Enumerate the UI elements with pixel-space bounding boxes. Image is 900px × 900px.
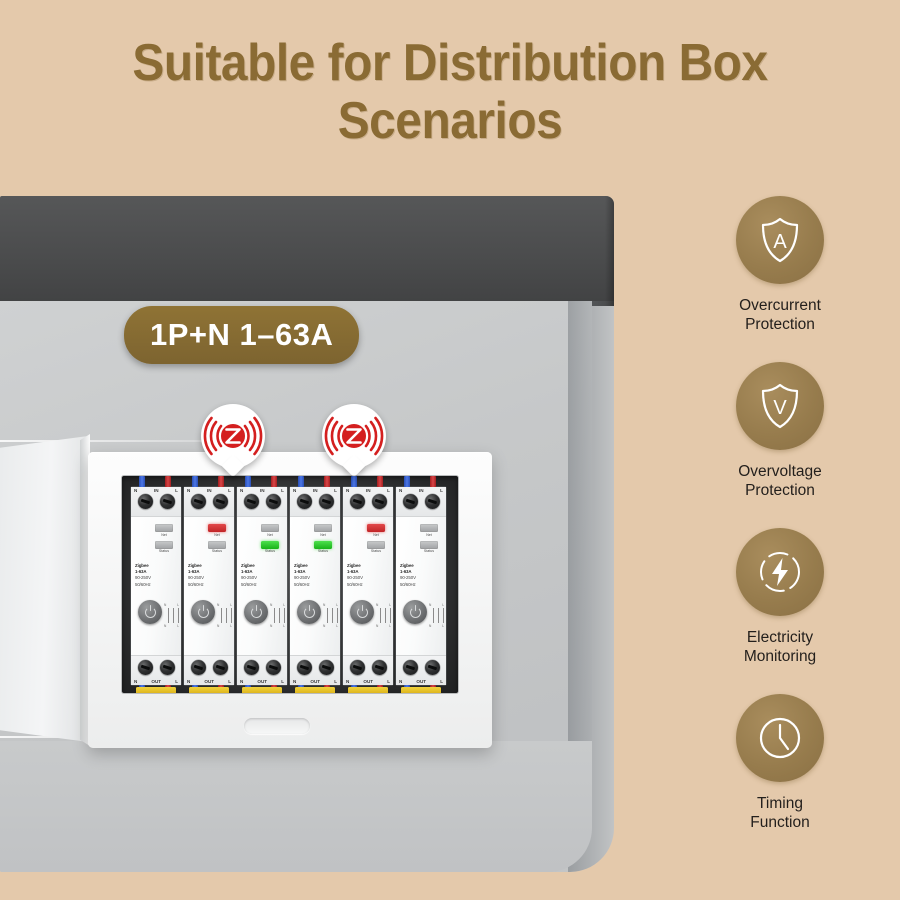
status-led [314,541,332,549]
spec-badge: 1P+N 1–63A [124,306,359,364]
distribution-box: NINLNetStatusZigbee1-63A90-250V50/60HzNL… [88,452,492,748]
clock-icon [754,712,806,764]
led-group: NetStatus [310,524,336,557]
power-icon [145,607,156,618]
feature-item-overvoltage-protection[interactable]: V Overvoltage Protection [672,362,888,500]
led-group: NetStatus [416,524,442,557]
spec-line-voltage: 90-250V [241,575,257,581]
terminal-label-in: IN [313,488,318,493]
input-terminal-row: NINL [184,487,234,517]
power-icon [357,607,368,618]
screw-terminal[interactable] [213,494,228,509]
terminal-label-l: L [175,488,178,493]
module-body: NetStatusZigbee1-63A90-250V50/60HzNLNL [290,517,340,655]
output-wires [237,683,287,693]
status-led [155,541,173,549]
output-terminal-row: NOUTL [184,655,234,685]
net-led [314,524,332,532]
power-icon [251,607,262,618]
feature-label-line-2: Function [750,813,809,832]
screw-terminal[interactable] [372,494,387,509]
output-screws [184,660,234,675]
net-led [261,524,279,532]
power-button[interactable] [297,600,321,624]
output-screws [131,660,181,675]
spec-line-voltage: 90-250V [188,575,204,581]
screw-terminal[interactable] [297,494,312,509]
terminal-label-n: N [134,488,137,493]
screw-terminal[interactable] [191,494,206,509]
feature-label-line-2: Monitoring [744,647,816,666]
screw-terminal[interactable] [160,494,175,509]
wiring-diagram: NLNL [429,603,444,631]
input-terminal-labels: NINL [396,488,446,493]
net-led-label: Net [257,533,283,537]
terminal-label-l: L [281,488,284,493]
terminal-block [295,687,335,693]
spec-line-frequency: 50/60Hz [400,582,416,588]
power-button[interactable] [350,600,374,624]
net-led [420,524,438,532]
output-terminal-row: NOUTL [343,655,393,685]
feature-icon-circle: V [736,362,824,450]
module-spec-text: Zigbee1-63A90-250V50/60Hz [400,563,416,588]
terminal-label-in: IN [260,488,265,493]
terminal-label-n: N [187,488,190,493]
feature-label-line-1: Electricity [744,628,816,647]
terminal-label-n: N [346,488,349,493]
feature-label-line-1: Overvoltage [738,462,822,481]
zigbee-pin-1 [201,404,265,468]
feature-label-line-2: Protection [739,315,821,334]
spec-line-frequency: 50/60Hz [294,582,310,588]
terminal-label-in: IN [154,488,159,493]
status-led-label: Status [204,549,230,553]
net-led-label: Net [363,533,389,537]
screw-terminal[interactable] [213,660,228,675]
feature-icon-circle [736,694,824,782]
led-group: NetStatus [257,524,283,557]
power-icon [304,607,315,618]
screw-terminal[interactable] [191,660,206,675]
net-led [155,524,173,532]
feature-label-line-1: Timing [750,794,809,813]
screw-terminal[interactable] [372,660,387,675]
screw-terminal[interactable] [403,660,418,675]
din-rail: NINLNetStatusZigbee1-63A90-250V50/60HzNL… [131,487,449,685]
input-terminal-labels: NINL [290,488,340,493]
input-terminal-row: NINL [237,487,287,517]
output-wires [396,683,446,693]
terminal-label-n: N [293,488,296,493]
screw-terminal[interactable] [244,660,259,675]
spec-line-voltage: 90-250V [294,575,310,581]
power-button[interactable] [403,600,427,624]
zigbee-icon [201,404,265,468]
wiring-diagram: NLNL [376,603,391,631]
screw-terminal[interactable] [138,494,153,509]
screw-terminal[interactable] [403,494,418,509]
net-led-label: Net [151,533,177,537]
feature-label: Electricity Monitoring [744,628,816,666]
terminal-block [242,687,282,693]
wall-lower-panel [0,741,592,872]
power-icon [410,607,421,618]
screw-terminal[interactable] [425,494,440,509]
module-body: NetStatusZigbee1-63A90-250V50/60HzNLNL [237,517,287,655]
ceiling-band [0,196,614,306]
screw-terminal[interactable] [319,494,334,509]
status-led [208,541,226,549]
spec-line-frequency: 50/60Hz [188,582,204,588]
screw-terminal[interactable] [266,494,281,509]
led-group: NetStatus [363,524,389,557]
power-icon [198,607,209,618]
input-screws [131,494,181,509]
output-terminal-row: NOUTL [237,655,287,685]
input-terminal-row: NINL [343,487,393,517]
feature-icon-circle: A [736,196,824,284]
output-wires [343,683,393,693]
breaker-module[interactable]: NINLNetStatusZigbee1-63A90-250V50/60HzNL… [396,487,446,685]
module-body: NetStatusZigbee1-63A90-250V50/60HzNLNL [184,517,234,655]
terminal-label-n: N [240,488,243,493]
feature-list: A Overcurrent Protection V Overvoltage P… [672,196,888,860]
module-spec-text: Zigbee1-63A90-250V50/60Hz [241,563,257,588]
status-led-label: Status [310,549,336,553]
feature-label-line-1: Overcurrent [739,296,821,315]
power-button[interactable] [191,600,215,624]
net-led [367,524,385,532]
output-screws [290,660,340,675]
spec-line-voltage: 90-250V [400,575,416,581]
terminal-label-l: L [440,488,443,493]
terminal-label-l: L [228,488,231,493]
wiring-diagram: NLNL [323,603,338,631]
status-led [367,541,385,549]
output-screws [396,660,446,675]
power-button[interactable] [138,600,162,624]
net-led [208,524,226,532]
breaker-module[interactable]: NINLNetStatusZigbee1-63A90-250V50/60HzNL… [184,487,234,685]
module-body: NetStatusZigbee1-63A90-250V50/60HzNLNL [396,517,446,655]
spec-line-voltage: 90-250V [347,575,363,581]
input-terminal-row: NINL [290,487,340,517]
net-led-label: Net [310,533,336,537]
input-terminal-row: NINL [396,487,446,517]
screw-terminal[interactable] [266,660,281,675]
power-button[interactable] [244,600,268,624]
spec-line-frequency: 50/60Hz [135,582,151,588]
module-spec-text: Zigbee1-63A90-250V50/60Hz [135,563,151,588]
feature-item-timing-function[interactable]: Timing Function [672,694,888,832]
spec-line-frequency: 50/60Hz [241,582,257,588]
spec-line-frequency: 50/60Hz [347,582,363,588]
screw-terminal[interactable] [350,494,365,509]
input-screws [290,494,340,509]
terminal-block [189,687,229,693]
input-screws [343,494,393,509]
spec-line-voltage: 90-250V [135,575,151,581]
breaker-module[interactable]: NINLNetStatusZigbee1-63A90-250V50/60HzNL… [290,487,340,685]
input-terminal-labels: NINL [131,488,181,493]
wiring-diagram: NLNL [270,603,285,631]
input-screws [237,494,287,509]
input-terminal-labels: NINL [237,488,287,493]
input-screws [396,494,446,509]
zigbee-pin-2 [322,404,386,468]
led-group: NetStatus [204,524,230,557]
terminal-block [348,687,388,693]
screw-terminal[interactable] [425,660,440,675]
terminal-block [401,687,441,693]
lightning-bolt-icon [754,546,806,598]
status-led-label: Status [416,549,442,553]
feature-label-line-2: Protection [738,481,822,500]
terminal-label-in: IN [366,488,371,493]
terminal-block [136,687,176,693]
svg-text:V: V [773,397,787,419]
terminal-label-l: L [387,488,390,493]
status-led-label: Status [363,549,389,553]
output-screws [343,660,393,675]
input-terminal-row: NINL [131,487,181,517]
output-terminal-row: NOUTL [131,655,181,685]
screw-terminal[interactable] [160,660,175,675]
status-led [261,541,279,549]
led-group: NetStatus [151,524,177,557]
svg-text:A: A [773,231,787,253]
terminal-label-n: N [399,488,402,493]
feature-item-overcurrent-protection[interactable]: A Overcurrent Protection [672,196,888,334]
output-wires [131,683,181,693]
screw-terminal[interactable] [350,660,365,675]
status-led-label: Status [151,549,177,553]
box-handle[interactable] [244,718,310,734]
input-screws [184,494,234,509]
input-terminal-labels: NINL [184,488,234,493]
output-wires [290,683,340,693]
wiring-diagram: NLNL [164,603,179,631]
module-body: NetStatusZigbee1-63A90-250V50/60HzNLNL [343,517,393,655]
page-title-line-2: Scenarios [36,92,864,150]
status-led [420,541,438,549]
zigbee-icon [322,404,386,468]
breaker-module[interactable]: NINLNetStatusZigbee1-63A90-250V50/60HzNL… [237,487,287,685]
feature-label: Timing Function [750,794,809,832]
page-title-line-1: Suitable for Distribution Box [36,34,864,92]
page-title: Suitable for Distribution Box Scenarios [0,34,900,150]
feature-label: Overcurrent Protection [739,296,821,334]
module-spec-text: Zigbee1-63A90-250V50/60Hz [347,563,363,588]
distribution-box-cavity: NINLNetStatusZigbee1-63A90-250V50/60HzNL… [122,476,458,693]
breaker-module[interactable]: NINLNetStatusZigbee1-63A90-250V50/60HzNL… [343,487,393,685]
breaker-module[interactable]: NINLNetStatusZigbee1-63A90-250V50/60HzNL… [131,487,181,685]
screw-terminal[interactable] [244,494,259,509]
output-wires [184,683,234,693]
wiring-diagram: NLNL [217,603,232,631]
screw-terminal[interactable] [297,660,312,675]
shield-a-icon: A [754,214,806,266]
net-led-label: Net [416,533,442,537]
input-terminal-labels: NINL [343,488,393,493]
status-led-label: Status [257,549,283,553]
feature-item-electricity-monitoring[interactable]: Electricity Monitoring [672,528,888,666]
feature-label: Overvoltage Protection [738,462,822,500]
terminal-label-in: IN [207,488,212,493]
screw-terminal[interactable] [319,660,334,675]
output-screws [237,660,287,675]
module-spec-text: Zigbee1-63A90-250V50/60Hz [294,563,310,588]
net-led-label: Net [204,533,230,537]
screw-terminal[interactable] [138,660,153,675]
terminal-label-l: L [334,488,337,493]
output-terminal-row: NOUTL [290,655,340,685]
distribution-box-cover-door[interactable] [0,436,88,742]
feature-icon-circle [736,528,824,616]
shield-v-icon: V [754,380,806,432]
terminal-label-in: IN [419,488,424,493]
output-terminal-row: NOUTL [396,655,446,685]
module-body: NetStatusZigbee1-63A90-250V50/60HzNLNL [131,517,181,655]
module-spec-text: Zigbee1-63A90-250V50/60Hz [188,563,204,588]
